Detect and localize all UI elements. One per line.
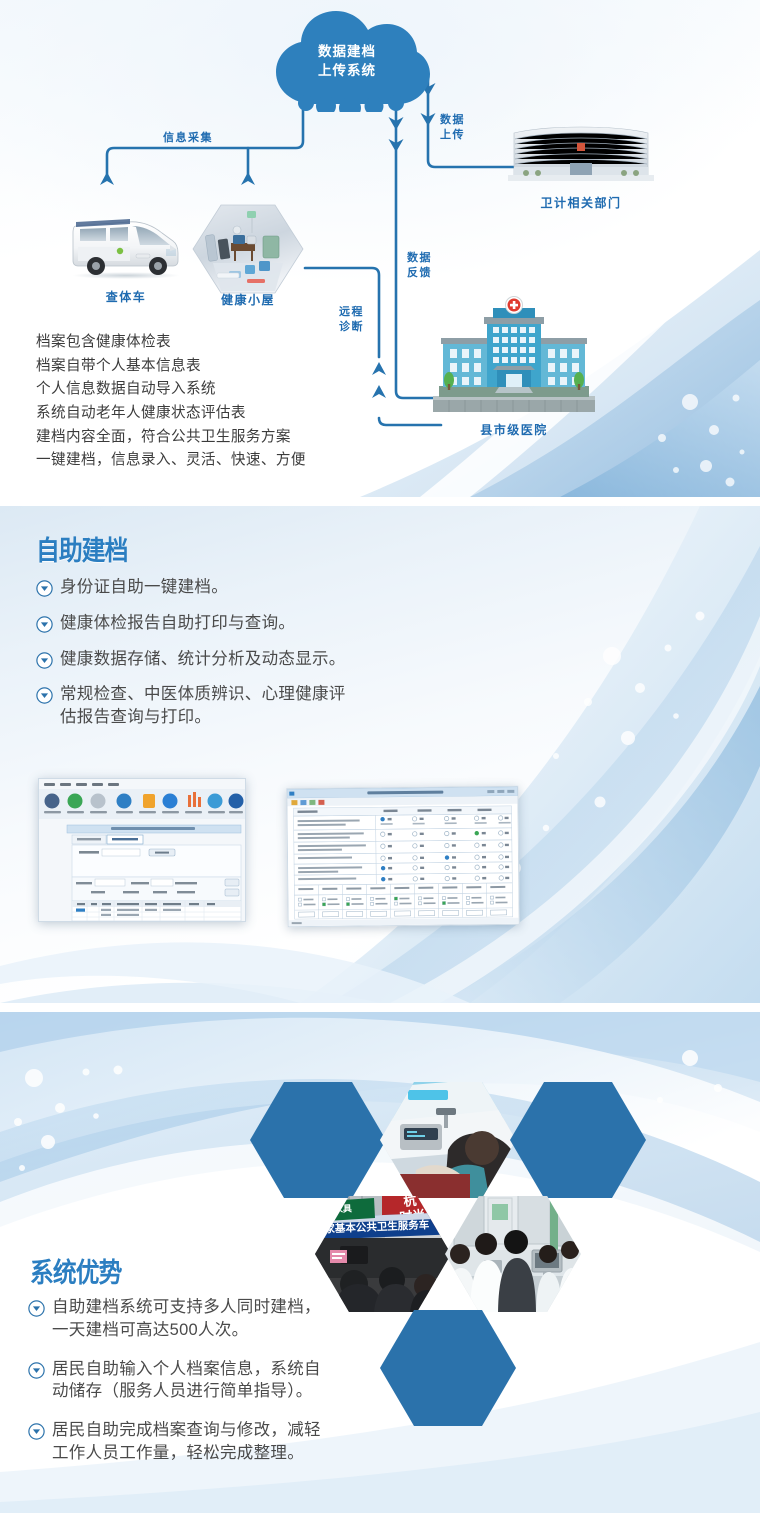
feature-item: 档案包含健康体检表 [36, 331, 436, 355]
section2-title: 自助建档 [36, 529, 128, 568]
infographic-page: 数据建档上传系统 信息采集 数据 上传 数据 反馈 远程 诊断 [0, 0, 760, 1513]
feature-item: 一键建档，信息录入、灵活、快速、方便 [36, 449, 436, 473]
bullet-text: 自助建档系统可支持多人同时建档， 一天建档可高达500人次。 [52, 1296, 321, 1342]
bullet-item: 居民自助完成档案查询与修改，减轻 工作人员工作量，轻松完成整理。 [28, 1419, 448, 1465]
bullet-text: 健康体检报告自助打印与查询。 [60, 612, 295, 635]
hex-solid-right-top [510, 1082, 646, 1198]
chevron-down-circle-icon [28, 1300, 45, 1317]
hex-photo-idcard-reader [380, 1078, 520, 1202]
bullet-item: 身份证自助一键建档。 [36, 576, 486, 599]
feature-item: 档案自带个人基本信息表 [36, 355, 436, 379]
feature-item: 系统自动老年人健康状态评估表 [36, 402, 436, 426]
cloud-system-node: 数据建档上传系统 [264, 8, 430, 112]
bullet-text: 健康数据存储、统计分析及动态显示。 [60, 648, 346, 671]
node-label-gov: 卫计相关部门 [506, 194, 656, 211]
chevron-down-circle-icon [36, 616, 53, 633]
hex-solid-left [250, 1082, 386, 1198]
county-hospital-image [431, 296, 597, 418]
health-checkup-van-image [70, 211, 182, 277]
chevron-down-circle-icon [36, 652, 53, 669]
chevron-down-circle-icon [36, 580, 53, 597]
node-label-cabin: 健康小屋 [198, 291, 298, 308]
bullet-text: 居民自助完成档案查询与修改，减轻 工作人员工作量，轻松完成整理。 [52, 1419, 321, 1465]
bullet-item: 常规检查、中医体质辨识、心理健康评 估报告查询与打印。 [36, 683, 486, 729]
section-architecture: 数据建档上传系统 信息采集 数据 上传 数据 反馈 远程 诊断 [0, 0, 760, 497]
archive-software-ui-render [39, 779, 245, 921]
bullet-item: 居民自助输入个人档案信息，系统自 动储存（服务人员进行简单指导）。 [28, 1358, 448, 1404]
section3-bullet-list: 自助建档系统可支持多人同时建档， 一天建档可高达500人次。 居民自助输入个人档… [28, 1296, 448, 1465]
hex-photo-clinic-staff [445, 1192, 586, 1316]
bullet-text: 常规检查、中医体质辨识、心理健康评 估报告查询与打印。 [60, 683, 346, 729]
section-system-advantages: 杭 州 时尚美发 国家基本公共卫生服务车 全屋家具 [0, 1012, 760, 1513]
section2-bullet-list: 身份证自助一键建档。 健康体检报告自助打印与查询。 健康数据存储、统计分析及动态… [36, 576, 486, 742]
bullet-item: 自助建档系统可支持多人同时建档， 一天建档可高达500人次。 [28, 1296, 448, 1342]
screenshot-health-assessment-form [286, 786, 519, 927]
flow-label-feedback: 数据 反馈 [407, 251, 432, 281]
bullet-item: 健康体检报告自助打印与查询。 [36, 612, 486, 635]
chevron-down-circle-icon [28, 1423, 45, 1440]
bullet-text: 居民自助输入个人档案信息，系统自 动储存（服务人员进行简单指导）。 [52, 1358, 321, 1404]
feature-item: 个人信息数据自动导入系统 [36, 378, 436, 402]
node-label-van: 查体车 [76, 288, 176, 305]
section3-title: 系统优势 [30, 1251, 122, 1290]
svg-text:全屋家具: 全屋家具 [315, 1202, 352, 1216]
chevron-down-circle-icon [28, 1362, 45, 1379]
bullet-item: 健康数据存储、统计分析及动态显示。 [36, 648, 486, 671]
flow-label-upload: 数据 上传 [440, 113, 465, 143]
feature-item: 建档内容全面，符合公共卫生服务方案 [36, 426, 436, 450]
assessment-form-ui-render [287, 787, 518, 926]
cloud-label: 数据建档上传系统 [264, 42, 430, 80]
feature-list: 档案包含健康体检表 档案自带个人基本信息表 个人信息数据自动导入系统 系统自动老… [36, 331, 436, 473]
screenshot-archive-management-software [38, 778, 246, 922]
health-cabin-image [191, 203, 305, 295]
chevron-down-circle-icon [36, 687, 53, 704]
flow-label-collect: 信息采集 [163, 131, 213, 146]
section-self-service-archiving: 自助建档 身份证自助一键建档。 健康体检报告自助打印与查询。 [0, 506, 760, 1003]
bullet-text: 身份证自助一键建档。 [60, 576, 228, 599]
government-department-building-image [508, 119, 654, 185]
node-label-hospital: 县市级医院 [434, 421, 594, 438]
